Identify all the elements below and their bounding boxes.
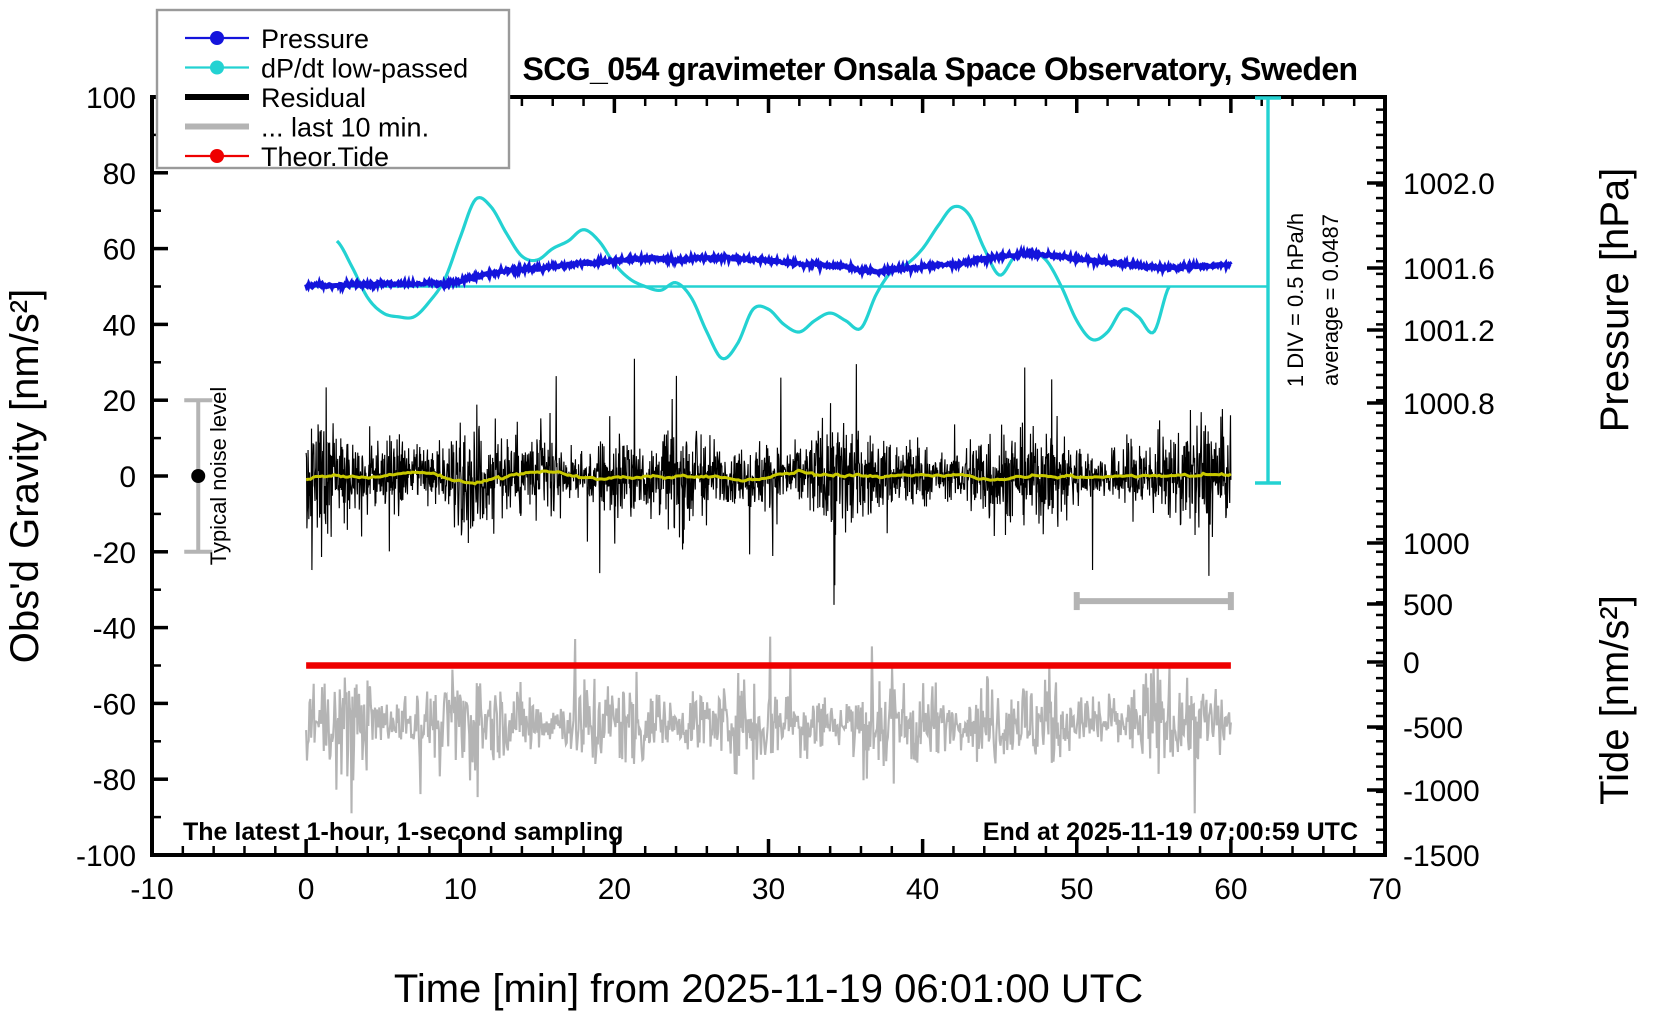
chart-title: SCG_054 gravimeter Onsala Space Observat… [523,51,1358,87]
right-axis-tide-label: -1000 [1403,775,1480,808]
bottom-axis: -10010203040506070Time [min] from 2025-1… [130,839,1401,1011]
chart-canvas: -100-80-60-40-20020406080100Obs'd Gravit… [0,0,1660,1020]
left-axis-tick-label: 0 [119,461,136,494]
bottom-axis-tick-label: 10 [444,873,477,906]
div-scale-label: 1 DIV = 0.5 hPa/h [1283,213,1308,387]
footer-left-note: The latest 1-hour, 1-second sampling [183,818,623,846]
noise-level-dot [191,469,205,483]
legend-swatch-dot [210,31,224,45]
left-axis-title: Obs'd Gravity [nm/s²] [3,289,47,663]
bottom-axis-tick-label: 20 [598,873,631,906]
left-axis-tick-label: -100 [76,840,136,873]
series-residual [306,359,1231,605]
right-axis-pressure-label: 1002.0 [1403,168,1495,201]
noise-level-indicator: Typical noise level [184,387,231,566]
right-axis-tide-title: Tide [nm/s²] [1593,595,1637,805]
left-axis-tick-label: 60 [103,234,136,267]
right-axis-tide-label: 500 [1403,589,1453,622]
left-axis-tick-label: -20 [93,537,136,570]
right-axis-tide-label: -500 [1403,712,1463,745]
legend-label: Pressure [261,24,369,54]
last-10-min-indicator [1077,592,1231,610]
legend: PressuredP/dt low-passedResidual... last… [157,10,509,172]
left-axis-tick-label: -80 [93,764,136,797]
right-axis-pressure-title: Pressure [hPa] [1593,168,1637,433]
right-axis-tide-label: -1500 [1403,840,1480,873]
bottom-axis-tick-label: 40 [906,873,939,906]
bottom-axis-tick-label: 0 [298,873,315,906]
dpdt-scale-indicator: 1 DIV = 0.5 hPa/haverage = 0.0487 [1255,98,1343,483]
right-axis: 1002.01001.61001.21000.8Pressure [hPa]10… [1367,97,1637,873]
left-axis-tick-label: -40 [93,613,136,646]
left-axis-tick-label: 40 [103,309,136,342]
bottom-axis-tick-label: 60 [1214,873,1247,906]
legend-label: Theor.Tide [261,142,389,172]
average-label: average = 0.0487 [1318,214,1343,386]
right-axis-tide-label: 0 [1403,647,1420,680]
legend-label: dP/dt low-passed [261,54,468,84]
right-axis-pressure-label: 1001.2 [1403,315,1495,348]
right-axis-pressure-label: 1000.8 [1403,388,1495,421]
plot-root: -100-80-60-40-20020406080100Obs'd Gravit… [3,10,1637,1011]
gravimeter-plot: -100-80-60-40-20020406080100Obs'd Gravit… [0,0,1660,1020]
legend-swatch-dot [210,149,224,163]
legend-label: ... last 10 min. [261,113,429,143]
left-axis: -100-80-60-40-20020406080100Obs'd Gravit… [3,82,168,873]
bottom-axis-tick-label: -10 [130,873,173,906]
series-pressure [306,251,1231,287]
right-axis-pressure-label: 1001.6 [1403,253,1495,286]
legend-label: Residual [261,83,366,113]
left-axis-tick-label: 80 [103,158,136,191]
bottom-axis-tick-label: 50 [1060,873,1093,906]
footer-right-note: End at 2025-11-19 07:00:59 UTC [983,818,1358,846]
bottom-axis-title: Time [min] from 2025-11-19 06:01:00 UTC [394,967,1143,1011]
noise-level-label: Typical noise level [206,387,231,566]
bottom-axis-tick-label: 30 [752,873,785,906]
bottom-axis-tick-label: 70 [1368,873,1401,906]
left-axis-tick-label: -60 [93,688,136,721]
right-axis-tide-label: 1000 [1403,528,1470,561]
left-axis-tick-label: 100 [86,82,136,115]
legend-swatch-dot [210,61,224,75]
left-axis-tick-label: 20 [103,385,136,418]
